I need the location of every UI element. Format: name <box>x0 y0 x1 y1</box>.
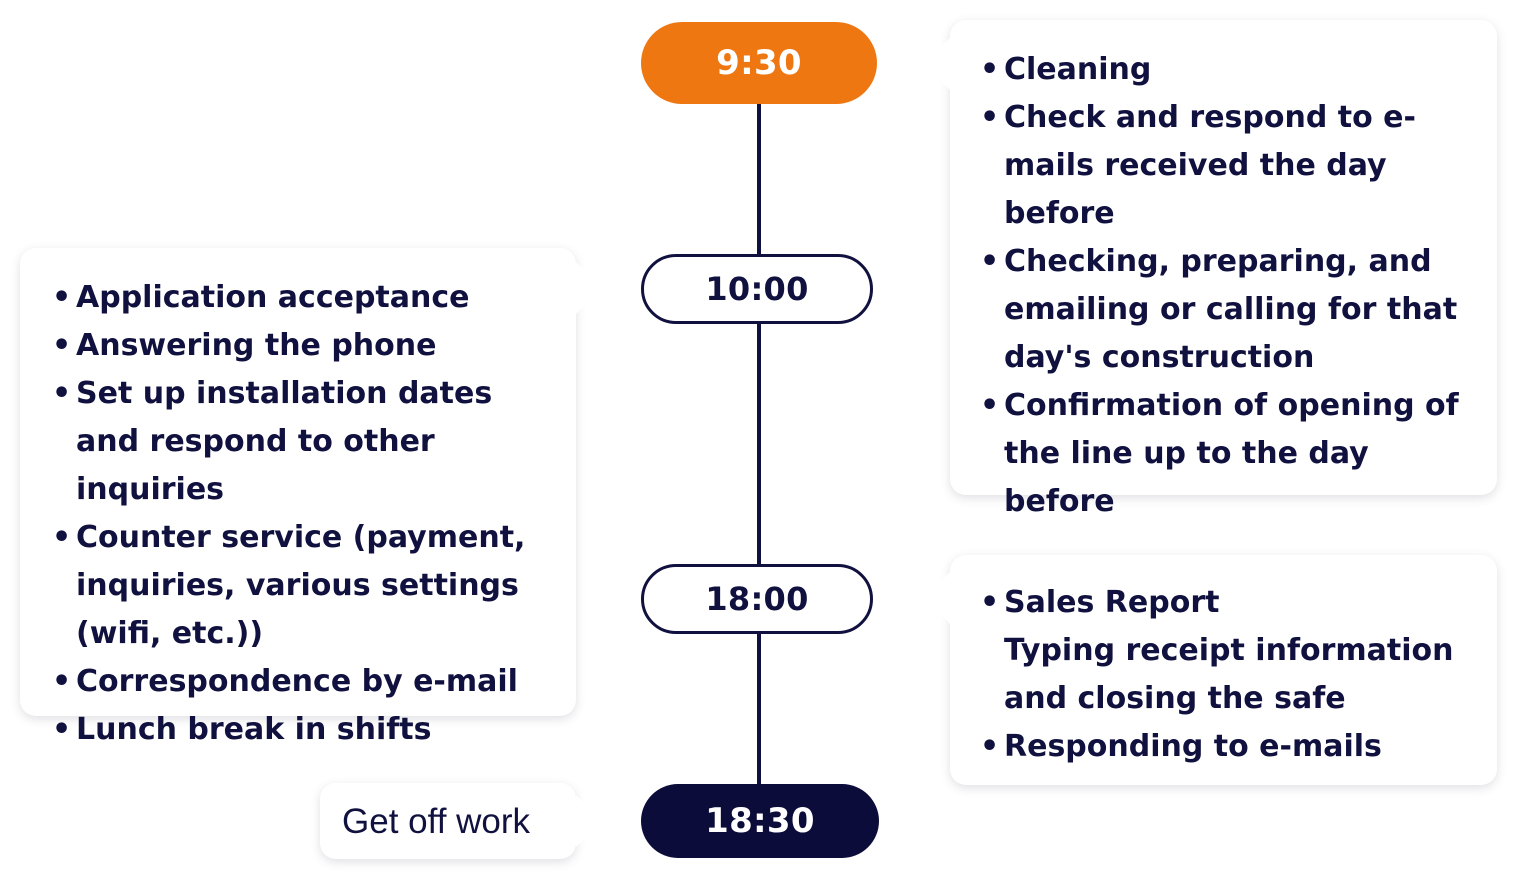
morning-task-list: Cleaning Check and respond to e-mails re… <box>976 46 1475 526</box>
list-item: Correspondence by e-mail <box>48 658 554 706</box>
task-text: Cleaning <box>1004 52 1151 87</box>
list-item: Check and respond to e-mails received th… <box>976 94 1475 238</box>
get-off-work-label: Get off work <box>342 804 530 839</box>
task-text: Confirmation of opening of the line up t… <box>1004 388 1459 519</box>
callout-pointer-left-icon <box>924 38 950 90</box>
list-item: Checking, preparing, and emailing or cal… <box>976 238 1475 382</box>
list-item: Set up installation dates and respond to… <box>48 370 554 514</box>
list-item: Application acceptance <box>48 274 554 322</box>
list-item: Lunch break in shifts <box>48 706 554 754</box>
task-text: Responding to e-mails <box>1004 729 1382 764</box>
list-item: Sales Report Typing receipt information … <box>976 579 1475 723</box>
timeline-node-end[interactable]: 18:30 <box>641 784 879 858</box>
timeline-node-start-label: 9:30 <box>716 43 802 83</box>
task-text: Set up installation dates and respond to… <box>76 376 492 507</box>
timeline-node-start[interactable]: 9:30 <box>641 22 877 104</box>
callout-pointer-right-icon <box>576 795 602 847</box>
timeline-connector-3 <box>757 630 761 788</box>
task-text: Answering the phone <box>76 328 436 363</box>
timeline-diagram: 9:30 10:00 18:00 18:30 Cleaning Check an… <box>0 0 1520 880</box>
task-text: Counter service (payment, inquiries, var… <box>76 520 525 651</box>
list-item: Responding to e-mails <box>976 723 1475 771</box>
task-text: Sales Report <box>1004 585 1219 620</box>
timeline-node-1800-label: 18:00 <box>705 580 808 618</box>
timeline-connector-2 <box>757 318 761 568</box>
list-item: Answering the phone <box>48 322 554 370</box>
list-item: Counter service (payment, inquiries, var… <box>48 514 554 658</box>
task-text: Correspondence by e-mail <box>76 664 518 699</box>
timeline-connector-1 <box>757 96 761 266</box>
callout-evening-tasks: Sales Report Typing receipt information … <box>950 555 1497 785</box>
task-subtext: Typing receipt information and closing t… <box>1004 627 1475 723</box>
task-text: Check and respond to e-mails received th… <box>1004 100 1416 231</box>
list-item: Confirmation of opening of the line up t… <box>976 382 1475 526</box>
callout-daytime-tasks: Application acceptance Answering the pho… <box>20 248 576 716</box>
task-text: Checking, preparing, and emailing or cal… <box>1004 244 1457 375</box>
timeline-node-1800[interactable]: 18:00 <box>641 564 873 634</box>
evening-task-list: Sales Report Typing receipt information … <box>976 579 1475 771</box>
callout-pointer-right-icon <box>576 262 602 314</box>
task-text: Lunch break in shifts <box>76 712 432 747</box>
callout-morning-tasks: Cleaning Check and respond to e-mails re… <box>950 20 1497 495</box>
timeline-node-end-label: 18:30 <box>705 801 815 841</box>
daytime-task-list: Application acceptance Answering the pho… <box>48 274 554 754</box>
callout-get-off-work: Get off work <box>320 783 576 859</box>
timeline-node-1000[interactable]: 10:00 <box>641 254 873 324</box>
list-item: Cleaning <box>976 46 1475 94</box>
callout-pointer-left-icon <box>924 572 950 624</box>
timeline-node-1000-label: 10:00 <box>705 270 808 308</box>
task-text: Application acceptance <box>76 280 470 315</box>
